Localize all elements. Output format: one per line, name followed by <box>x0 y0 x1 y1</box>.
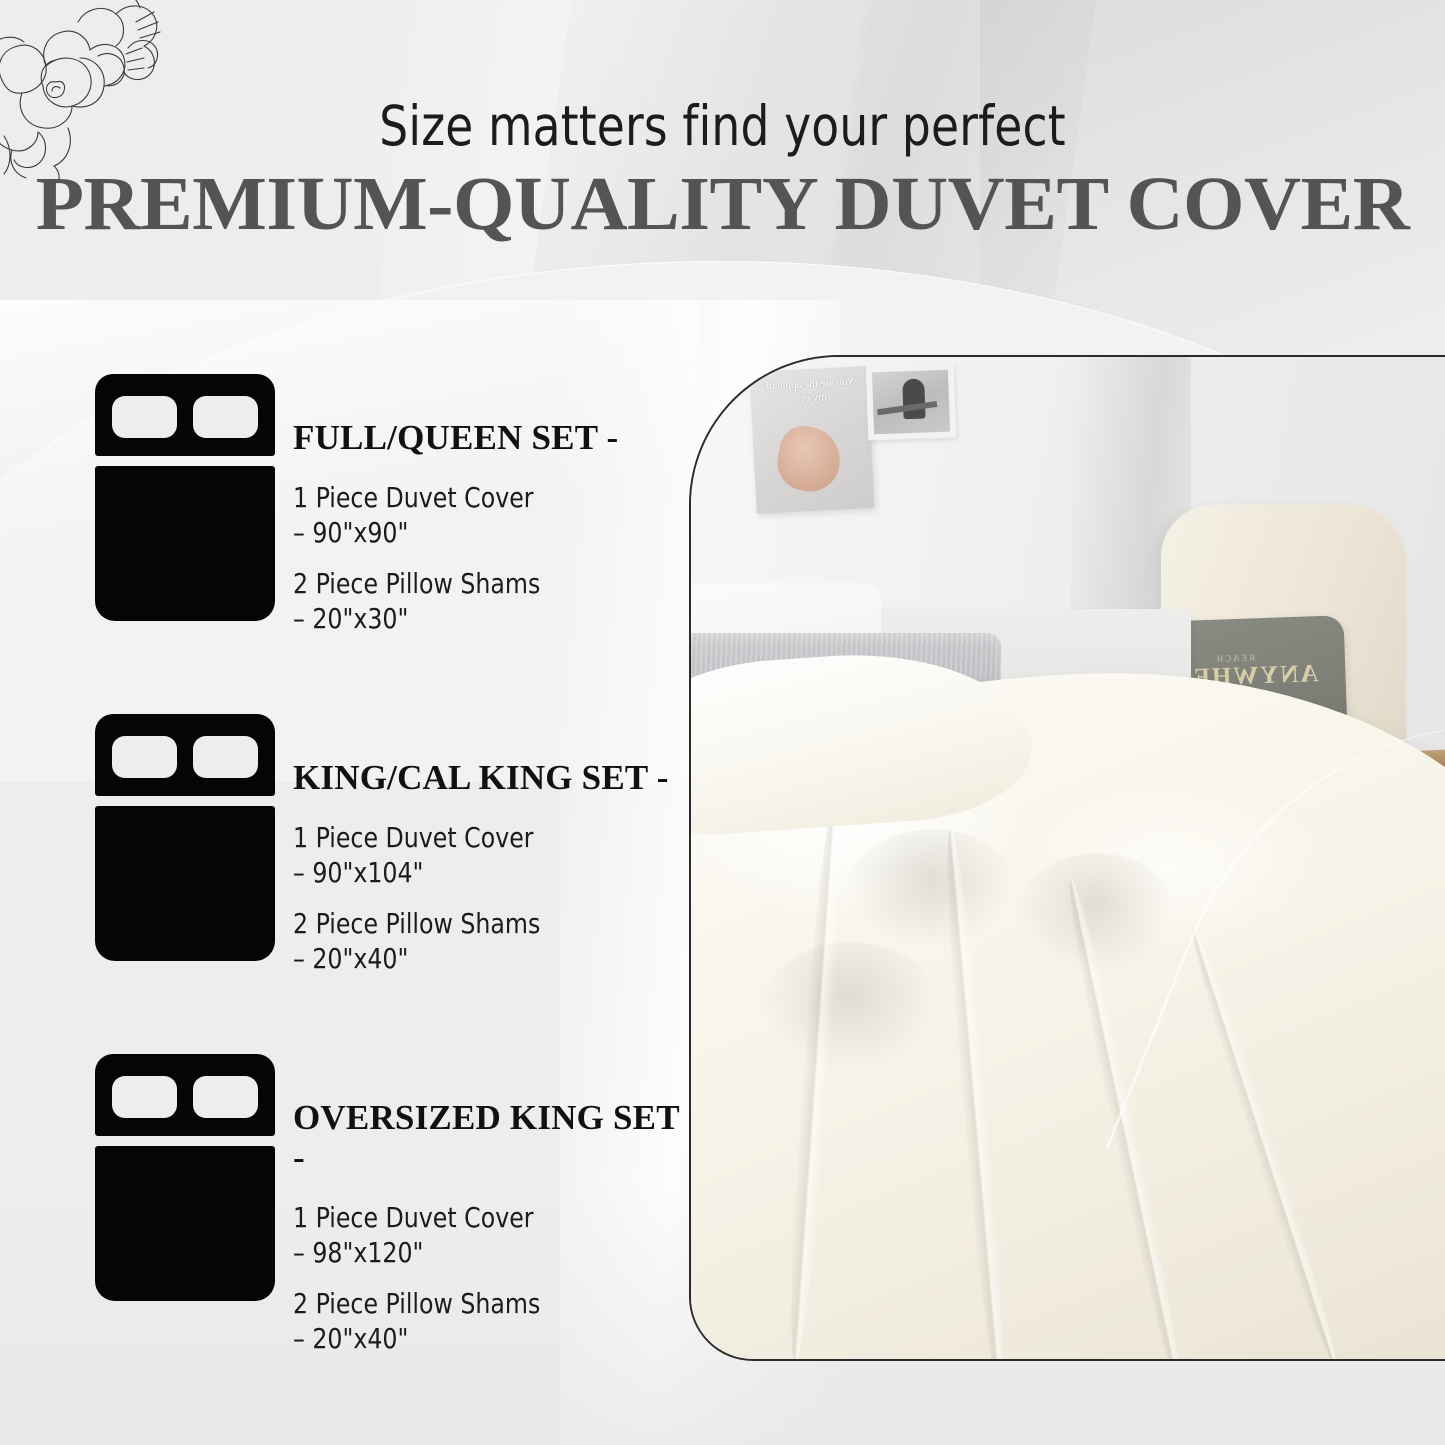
size-row-line: 1 Piece Duvet Cover <box>293 480 669 515</box>
bed-pillow-left-icon <box>112 736 177 778</box>
size-row-title: OVERSIZED KING SET - <box>293 1098 693 1178</box>
size-row-line: – 90"x104" <box>293 855 669 890</box>
size-list: FULL/QUEEN SET - 1 Piece Duvet Cover – 9… <box>0 360 700 1380</box>
bed-pillow-right-icon <box>193 736 258 778</box>
bed-headboard-icon <box>95 714 275 796</box>
size-row-line: – 20"x30" <box>293 601 669 636</box>
infographic-canvas: Size matters find your perfect PREMIUM-Q… <box>0 0 1445 1445</box>
bed-icon <box>95 1054 275 1302</box>
size-row-title: KING/CAL KING SET - <box>293 758 693 798</box>
size-row-line: 2 Piece Pillow Shams <box>293 566 669 601</box>
bed-mattress-icon <box>95 1146 275 1301</box>
size-row-line: – 98"x120" <box>293 1235 669 1270</box>
duvet-fold <box>782 803 847 1361</box>
size-row: OVERSIZED KING SET - 1 Piece Duvet Cover… <box>0 1040 700 1380</box>
size-row-line: – 20"x40" <box>293 1321 669 1356</box>
poster-caption: You are the apple of my eye <box>760 374 861 407</box>
size-row: KING/CAL KING SET - 1 Piece Duvet Cover … <box>0 700 700 1040</box>
size-row: FULL/QUEEN SET - 1 Piece Duvet Cover – 9… <box>0 360 700 700</box>
size-row-text: OVERSIZED KING SET - 1 Piece Duvet Cover… <box>293 1098 693 1356</box>
bed-pillow-left-icon <box>112 1076 177 1118</box>
poster-figure-shape <box>902 379 925 420</box>
size-row-line: 1 Piece Duvet Cover <box>293 820 669 855</box>
bed-pillow-right-icon <box>193 1076 258 1118</box>
poster-photo-image <box>872 370 950 435</box>
bed-icon <box>95 374 275 622</box>
size-row-text: KING/CAL KING SET - 1 Piece Duvet Cover … <box>293 758 693 976</box>
size-row-line: 1 Piece Duvet Cover <box>293 1200 669 1235</box>
page-subtitle: Size matters find your perfect <box>58 96 1387 156</box>
bed-mattress-icon <box>95 466 275 621</box>
duvet-tuft <box>1014 851 1178 977</box>
size-row-line: 2 Piece Pillow Shams <box>293 1286 669 1321</box>
bed-headboard-icon <box>95 1054 275 1136</box>
wall-poster-right <box>866 363 957 440</box>
bed-icon <box>95 714 275 962</box>
page-title: PREMIUM-QUALITY DUVET COVER <box>0 160 1445 248</box>
size-row-line: – 90"x90" <box>293 515 669 550</box>
bed-pillow-left-icon <box>112 396 177 438</box>
bed-mattress-icon <box>95 806 275 961</box>
size-row-title: FULL/QUEEN SET - <box>293 418 693 458</box>
size-row-line: 2 Piece Pillow Shams <box>293 906 669 941</box>
bed-pillow-right-icon <box>193 396 258 438</box>
wall-poster-left: You are the apple of my eye <box>749 366 874 514</box>
poster-hand-image <box>772 422 845 497</box>
size-row-text: FULL/QUEEN SET - 1 Piece Duvet Cover – 9… <box>293 418 693 636</box>
size-row-line: – 20"x40" <box>293 941 669 976</box>
duvet-tuft <box>843 826 1017 952</box>
bedroom-lifestyle-photo: You are the apple of my eye REACH ANYWHE… <box>689 355 1445 1361</box>
duvet-tuft <box>757 939 941 1075</box>
bed-headboard-icon <box>95 374 275 456</box>
